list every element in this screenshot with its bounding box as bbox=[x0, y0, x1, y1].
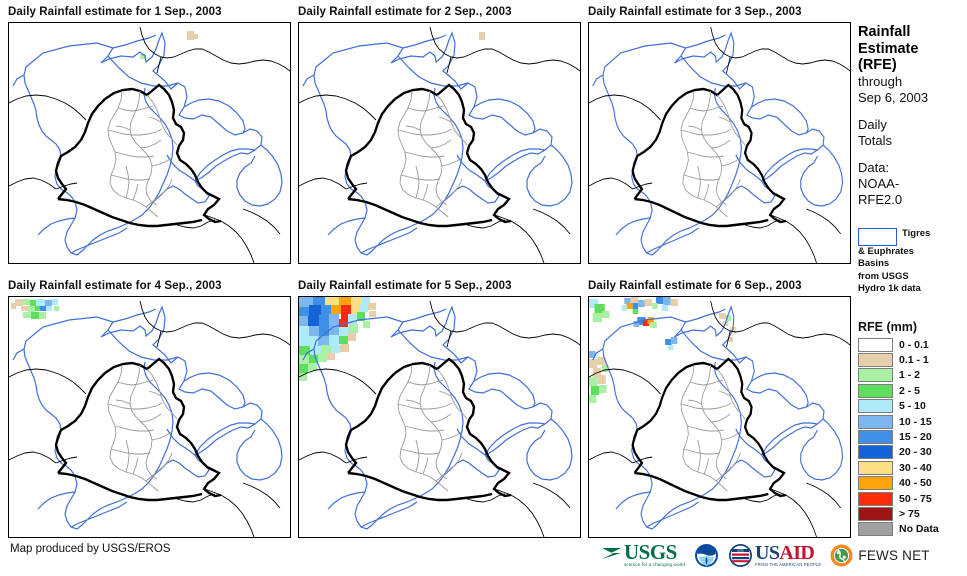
rfe-legend-item: 1 - 2 bbox=[858, 368, 967, 383]
rfe-legend-item: 30 - 40 bbox=[858, 460, 967, 475]
rfe-color-swatch bbox=[858, 507, 893, 521]
province-borders bbox=[108, 365, 177, 491]
panel-title: Daily Rainfall estimate for 3 Sep., 2003 bbox=[588, 4, 851, 20]
rfe-legend-item: 40 - 50 bbox=[858, 476, 967, 491]
rfe-range-label: 15 - 20 bbox=[899, 431, 932, 443]
fewsnet-logo[interactable]: FEWS NET bbox=[830, 544, 929, 567]
info-totals-line2: Totals bbox=[858, 133, 967, 149]
usgs-wordmark: USGS bbox=[624, 543, 685, 562]
iraq-border bbox=[633, 359, 786, 500]
map-canvas bbox=[299, 23, 580, 263]
iraq-border bbox=[346, 359, 511, 500]
country-borders bbox=[9, 27, 290, 263]
rfe-legend-item: 0 - 0.1 bbox=[858, 337, 967, 352]
rfe-range-label: 50 - 75 bbox=[899, 493, 932, 505]
map-canvas bbox=[299, 297, 580, 537]
rfe-legend-item: 0.1 - 1 bbox=[858, 352, 967, 367]
map-panel-3: Daily Rainfall estimate for 3 Sep., 2003 bbox=[588, 4, 851, 20]
rfe-legend-item: 10 - 15 bbox=[858, 414, 967, 429]
province-borders bbox=[681, 365, 745, 491]
rain-cells bbox=[140, 31, 198, 59]
rfe-color-swatch bbox=[858, 430, 893, 444]
info-data-line1: NOAA- bbox=[858, 176, 967, 192]
map-panel-1: Daily Rainfall estimate for 1 Sep., 2003 bbox=[8, 4, 291, 20]
map-svg bbox=[9, 23, 290, 263]
rfe-color-swatch bbox=[858, 522, 893, 536]
basin-outline bbox=[593, 307, 843, 529]
rfe-range-label: 10 - 15 bbox=[899, 416, 932, 428]
rfe-legend-item: No Data bbox=[858, 522, 967, 537]
map-canvas bbox=[589, 297, 850, 537]
rfe-legend-title: RFE (mm) bbox=[858, 320, 967, 334]
rfe-legend-item: 20 - 30 bbox=[858, 445, 967, 460]
map-frame[interactable] bbox=[8, 296, 291, 538]
fewsnet-globe-icon bbox=[830, 544, 853, 567]
rfe-legend-item: > 75 bbox=[858, 506, 967, 521]
info-through-label: through bbox=[858, 74, 967, 90]
basin-label-line4: from USGS bbox=[858, 271, 967, 283]
rfe-range-label: 2 - 5 bbox=[899, 385, 920, 397]
rfe-range-label: 40 - 50 bbox=[899, 477, 932, 489]
rfe-legend-item: 50 - 75 bbox=[858, 491, 967, 506]
rfe-color-swatch bbox=[858, 415, 893, 429]
basin-label-line5: Hydro 1k data bbox=[858, 283, 967, 295]
usgs-mark-icon bbox=[601, 545, 623, 565]
rfe-range-label: 1 - 2 bbox=[899, 369, 920, 381]
logo-strip: USGS science for a changing world bbox=[601, 540, 939, 570]
map-frame[interactable] bbox=[298, 296, 581, 538]
usaid-tagline: FROM THE AMERICAN PEOPLE bbox=[755, 562, 821, 567]
rain-cells bbox=[479, 32, 485, 40]
map-panel-4: Daily Rainfall estimate for 4 Sep., 2003 bbox=[8, 278, 291, 294]
map-frame[interactable] bbox=[298, 22, 581, 264]
map-canvas bbox=[589, 23, 850, 263]
rfe-color-swatch bbox=[858, 461, 893, 475]
usaid-logo[interactable]: USAID FROM THE AMERICAN PEOPLE bbox=[728, 543, 821, 568]
basin-outline bbox=[593, 33, 843, 255]
rfe-color-swatch bbox=[858, 399, 893, 413]
map-svg bbox=[299, 23, 580, 263]
basin-outline bbox=[13, 33, 282, 255]
rain-cells bbox=[11, 299, 59, 319]
rfe-legend-item: 15 - 20 bbox=[858, 429, 967, 444]
rfe-color-swatch bbox=[858, 384, 893, 398]
province-borders bbox=[398, 365, 467, 491]
usaid-seal-icon bbox=[728, 543, 753, 568]
rfe-color-swatch bbox=[858, 368, 893, 382]
info-title-line3: (RFE) bbox=[858, 57, 967, 74]
info-column: Rainfall Estimate (RFE) through Sep 6, 2… bbox=[858, 24, 967, 208]
rain-cells bbox=[299, 297, 376, 381]
info-title-line2: Estimate bbox=[858, 41, 967, 58]
rfe-legend-rows: 0 - 0.10.1 - 11 - 22 - 55 - 1010 - 1515 … bbox=[858, 337, 967, 537]
panel-title: Daily Rainfall estimate for 4 Sep., 2003 bbox=[8, 278, 291, 294]
info-data-label: Data: bbox=[858, 160, 967, 176]
rfe-range-label: 0.1 - 1 bbox=[899, 354, 929, 366]
map-frame[interactable] bbox=[8, 22, 291, 264]
panel-title: Daily Rainfall estimate for 2 Sep., 2003 bbox=[298, 4, 581, 20]
rfe-range-label: 20 - 30 bbox=[899, 446, 932, 458]
usgs-logo[interactable]: USGS science for a changing world bbox=[601, 543, 685, 567]
basin-label-line1: Tigres bbox=[902, 228, 930, 240]
rfe-legend: RFE (mm) 0 - 0.10.1 - 11 - 22 - 55 - 101… bbox=[858, 320, 967, 537]
map-panel-6: Daily Rainfall estimate for 6 Sep., 2003 bbox=[588, 278, 851, 294]
iraq-border bbox=[56, 85, 221, 226]
map-svg bbox=[9, 297, 290, 537]
panel-title: Daily Rainfall estimate for 1 Sep., 2003 bbox=[8, 4, 291, 20]
rfe-color-swatch bbox=[858, 353, 893, 367]
rfe-legend-item: 5 - 10 bbox=[858, 399, 967, 414]
iraq-border bbox=[56, 359, 221, 500]
map-panel-5: Daily Rainfall estimate for 5 Sep., 2003 bbox=[298, 278, 581, 294]
basin-label-line2: & Euphrates bbox=[858, 246, 967, 258]
basin-outline bbox=[303, 33, 572, 255]
info-data-line2: RFE2.0 bbox=[858, 192, 967, 208]
rfe-range-label: No Data bbox=[899, 523, 939, 535]
map-frame[interactable] bbox=[588, 22, 851, 264]
basin-legend: Tigres & Euphrates Basins from USGS Hydr… bbox=[858, 228, 967, 296]
rfe-color-swatch bbox=[858, 338, 893, 352]
iraq-border bbox=[633, 85, 786, 226]
rfe-range-label: 0 - 0.1 bbox=[899, 339, 929, 351]
rfe-range-label: > 75 bbox=[899, 508, 920, 520]
fewsnet-wordmark: FEWS NET bbox=[858, 548, 929, 563]
rfe-legend-item: 2 - 5 bbox=[858, 383, 967, 398]
info-through-date: Sep 6, 2003 bbox=[858, 90, 967, 106]
map-svg bbox=[589, 23, 850, 263]
rfe-color-swatch bbox=[858, 492, 893, 506]
noaa-seal-icon bbox=[694, 543, 719, 568]
usaid-wordmark: USAID bbox=[755, 544, 821, 562]
usgs-tagline: science for a changing world bbox=[624, 562, 685, 567]
map-canvas bbox=[9, 297, 290, 537]
country-borders bbox=[299, 27, 580, 263]
basin-swatch bbox=[858, 228, 897, 246]
rfe-color-swatch bbox=[858, 476, 893, 490]
panel-title: Daily Rainfall estimate for 5 Sep., 2003 bbox=[298, 278, 581, 294]
map-frame[interactable] bbox=[588, 296, 851, 538]
map-svg bbox=[589, 297, 850, 537]
info-totals-line1: Daily bbox=[858, 117, 967, 133]
rfe-color-swatch bbox=[858, 445, 893, 459]
province-borders bbox=[108, 91, 177, 217]
country-borders bbox=[9, 301, 290, 537]
info-title-line1: Rainfall bbox=[858, 24, 967, 41]
iraq-border bbox=[346, 85, 511, 226]
country-borders bbox=[589, 27, 850, 263]
noaa-logo[interactable] bbox=[694, 543, 719, 568]
province-borders bbox=[681, 91, 745, 217]
province-borders bbox=[398, 91, 467, 217]
map-svg bbox=[299, 297, 580, 537]
map-panel-2: Daily Rainfall estimate for 2 Sep., 2003 bbox=[298, 4, 581, 20]
country-borders bbox=[589, 301, 850, 537]
rfe-range-label: 5 - 10 bbox=[899, 400, 926, 412]
map-canvas bbox=[9, 23, 290, 263]
panel-title: Daily Rainfall estimate for 6 Sep., 2003 bbox=[588, 278, 851, 294]
map-credit: Map produced by USGS/EROS bbox=[10, 543, 170, 555]
rfe-range-label: 30 - 40 bbox=[899, 462, 932, 474]
basin-outline bbox=[13, 307, 282, 529]
basin-label-line3: Basins bbox=[858, 258, 967, 270]
